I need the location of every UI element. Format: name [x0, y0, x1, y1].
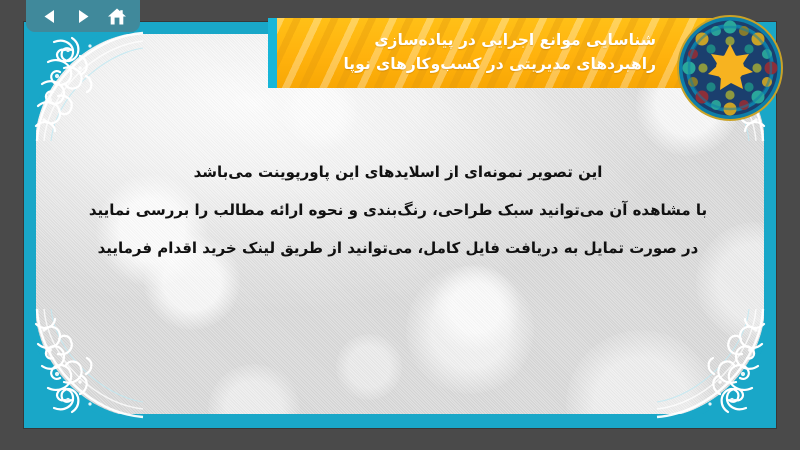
- title-line-1: شناسایی موانع اجرایی در پیاده‌سازی: [290, 29, 656, 53]
- slide-viewer: این تصویر نمونه‌ای از اسلایدهای این پاور…: [0, 0, 800, 450]
- slide-title-banner: شناسایی موانع اجرایی در پیاده‌سازی راهبر…: [268, 18, 720, 88]
- body-line-3: در صورت تمایل به دریافت فایل کامل، می‌تو…: [64, 230, 732, 268]
- body-line-1: این تصویر نمونه‌ای از اسلایدهای این پاور…: [64, 154, 732, 192]
- mandala-ornament: [676, 14, 784, 122]
- slide-title: شناسایی موانع اجرایی در پیاده‌سازی راهبر…: [268, 29, 720, 76]
- home-icon: [107, 7, 127, 26]
- slide-body-text: این تصویر نمونه‌ای از اسلایدهای این پاور…: [64, 154, 732, 267]
- bokeh-circle: [406, 266, 534, 394]
- bokeh-circle: [566, 330, 716, 414]
- triangle-right-icon: [75, 8, 92, 25]
- navigation-bar: [26, 0, 140, 32]
- body-line-2: با مشاهده آن می‌توانید سبک طراحی، رنگ‌بن…: [64, 192, 732, 230]
- home-button[interactable]: [104, 3, 130, 29]
- bokeh-circle: [208, 364, 300, 414]
- title-line-2: راهبردهای مدیریتی در کسب‌وکارهای نوپا: [290, 53, 656, 77]
- triangle-left-icon: [41, 8, 58, 25]
- bokeh-circle: [336, 334, 402, 400]
- previous-slide-button[interactable]: [36, 3, 62, 29]
- bokeh-circle: [432, 264, 520, 352]
- next-slide-button[interactable]: [70, 3, 96, 29]
